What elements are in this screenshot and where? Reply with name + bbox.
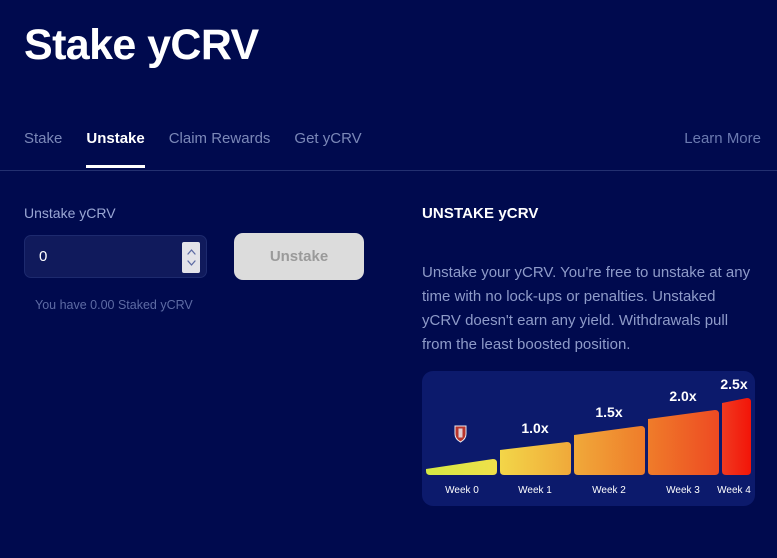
boost-value-week-1: 1.0x — [521, 420, 548, 436]
boost-label-week-4: Week 4 — [717, 485, 751, 496]
boost-chart: 1.0x 1.5x 2.0x 2.5x Week 0 Week 1 Week 2… — [422, 371, 755, 506]
info-heading: UNSTAKE yCRV — [422, 205, 757, 223]
page-title: Stake yCRV — [24, 22, 259, 69]
learn-more-link[interactable]: Learn More — [684, 130, 761, 147]
boost-value-week-2: 1.5x — [595, 404, 622, 420]
chevron-up-icon[interactable] — [187, 249, 196, 255]
boost-bar-week-0 — [426, 459, 497, 475]
boost-value-week-4: 2.5x — [720, 376, 747, 392]
tab-unstake[interactable]: Unstake — [86, 118, 144, 171]
shield-icon — [455, 426, 466, 442]
tab-stake[interactable]: Stake — [24, 118, 62, 171]
tab-get-ycrv[interactable]: Get yCRV — [294, 118, 361, 171]
tab-bar-divider — [0, 170, 777, 171]
boost-label-week-1: Week 1 — [518, 485, 552, 496]
stake-ycrv-page: Stake yCRV Stake Unstake Claim Rewards G… — [0, 0, 777, 558]
amount-stepper[interactable] — [182, 242, 200, 273]
unstake-submit-button[interactable]: Unstake — [234, 233, 364, 280]
info-paragraph: Unstake your yCRV. You're free to unstak… — [422, 261, 757, 357]
tab-claim-rewards[interactable]: Claim Rewards — [169, 118, 271, 171]
amount-field-label: Unstake yCRV — [24, 205, 394, 222]
boost-label-week-3: Week 3 — [666, 485, 700, 496]
tab-list: Stake Unstake Claim Rewards Get yCRV — [24, 118, 362, 171]
boost-label-week-2: Week 2 — [592, 485, 626, 496]
boost-bar-week-4 — [722, 398, 751, 475]
chevron-down-icon[interactable] — [187, 260, 196, 266]
boost-bars — [426, 398, 751, 475]
staked-balance-helper: You have 0.00 Staked yCRV — [35, 298, 394, 313]
amount-input[interactable]: 0 — [24, 235, 207, 278]
info-panel: UNSTAKE yCRV Unstake your yCRV. You're f… — [422, 205, 757, 357]
boost-bar-week-1 — [500, 442, 571, 475]
boost-category-labels: Week 0 Week 1 Week 2 Week 3 Week 4 — [445, 485, 751, 496]
boost-bar-week-3 — [648, 410, 719, 475]
boost-label-week-0: Week 0 — [445, 485, 479, 496]
amount-input-row: 0 Unstake — [24, 233, 394, 280]
tab-bar: Stake Unstake Claim Rewards Get yCRV Lea… — [0, 118, 777, 171]
boost-chart-panel: 1.0x 1.5x 2.0x 2.5x Week 0 Week 1 Week 2… — [422, 371, 755, 506]
boost-bar-week-2 — [574, 426, 645, 475]
amount-input-value[interactable]: 0 — [25, 248, 47, 265]
boost-value-week-3: 2.0x — [669, 388, 696, 404]
unstake-form: Unstake yCRV 0 Unstake You have 0.00 Sta… — [24, 205, 394, 313]
